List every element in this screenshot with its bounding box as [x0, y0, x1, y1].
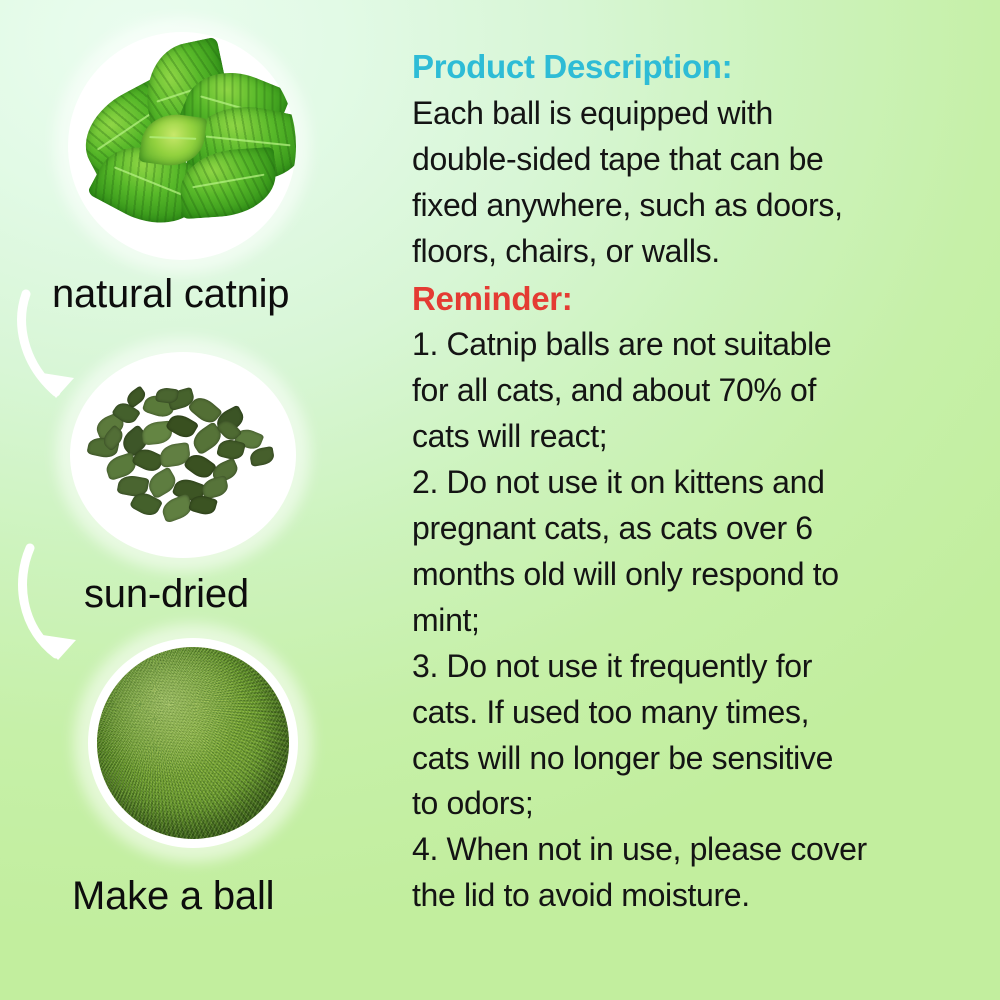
reminder-line: cats will no longer be sensitive — [412, 736, 974, 782]
pressed-catnip-sphere — [97, 647, 289, 839]
reminder-line: 1. Catnip balls are not suitable — [412, 322, 974, 368]
stage-caption-sun-dried: sun-dried — [84, 572, 249, 617]
product-infographic: natural catnip — [0, 0, 1000, 1000]
stage-caption-make-a-ball: Make a ball — [72, 874, 274, 919]
reminder-line: cats. If used too many times, — [412, 690, 974, 736]
reminder-line: 3. Do not use it frequently for — [412, 644, 974, 690]
reminder-line: 2. Do not use it on kittens and — [412, 460, 974, 506]
reminder-line: months old will only respond to — [412, 552, 974, 598]
fresh-mint-leaves-photo — [68, 32, 296, 260]
reminder-line: cats will react; — [412, 414, 974, 460]
process-flow-column: natural catnip — [0, 0, 400, 1000]
reminder-line: for all cats, and about 70% of — [412, 368, 974, 414]
product-description-heading: Product Description: — [412, 46, 974, 89]
reminder-heading: Reminder: — [412, 278, 974, 321]
reminder-line: pregnant cats, as cats over 6 — [412, 506, 974, 552]
reminder-line: the lid to avoid moisture. — [412, 873, 974, 919]
reminder-line: 4. When not in use, please cover — [412, 827, 974, 873]
description-line: fixed anywhere, such as doors, — [412, 183, 974, 229]
description-line: double-sided tape that can be — [412, 137, 974, 183]
description-line: floors, chairs, or walls. — [412, 229, 974, 275]
catnip-ball-photo — [88, 638, 298, 848]
stage-caption-natural-catnip: natural catnip — [52, 272, 289, 317]
mint-leaf-cluster — [68, 32, 296, 260]
dried-catnip-leaves-photo — [70, 352, 296, 558]
reminder-line: mint; — [412, 598, 974, 644]
reminder-line: to odors; — [412, 781, 974, 827]
description-line: Each ball is equipped with — [412, 91, 974, 137]
product-copy-column: Product Description: Each ball is equipp… — [412, 46, 974, 919]
dried-leaf-heap — [70, 352, 296, 558]
